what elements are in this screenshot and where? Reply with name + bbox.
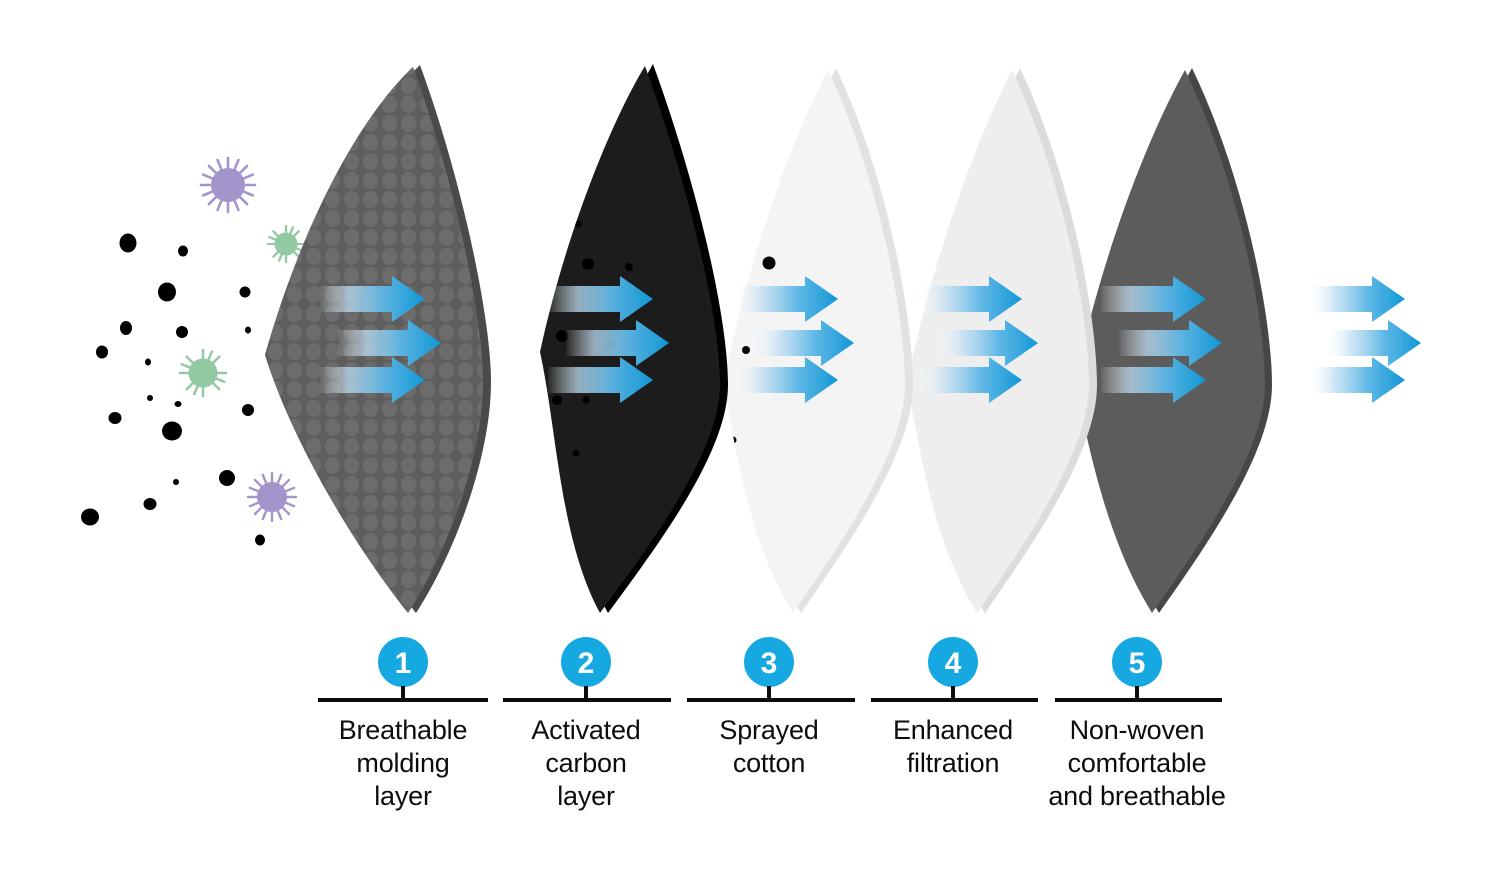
diagram-canvas: 1 2 3 4: [0, 0, 1500, 875]
virus-particle-purple: [201, 158, 255, 212]
captured-virus-green: [549, 224, 571, 246]
badge-number-1: 1: [395, 647, 412, 680]
layer-caption-5: Non-woven comfortable and breathable: [1007, 714, 1267, 814]
captured-virus-purple: [524, 422, 546, 444]
layer-callout-3[interactable]: 3: [687, 637, 855, 700]
airflow-arrow-group-6-clean-air: [1307, 276, 1421, 403]
dust-particles: [81, 234, 265, 546]
layer-callout-5[interactable]: 5: [1055, 637, 1222, 700]
badge-number-2: 2: [578, 647, 595, 680]
layer-callout-1[interactable]: 1: [318, 637, 488, 700]
virus-particle-purple: [248, 473, 296, 521]
badge-number-5: 5: [1129, 647, 1146, 680]
badge-number-3: 3: [761, 647, 778, 680]
badge-number-4: 4: [945, 647, 962, 680]
layer-callouts: 1 2 3 4: [318, 637, 1222, 700]
layer-callout-2[interactable]: 2: [503, 637, 671, 700]
virus-particle-green: [180, 350, 226, 396]
layer-callout-4[interactable]: 4: [871, 637, 1038, 700]
